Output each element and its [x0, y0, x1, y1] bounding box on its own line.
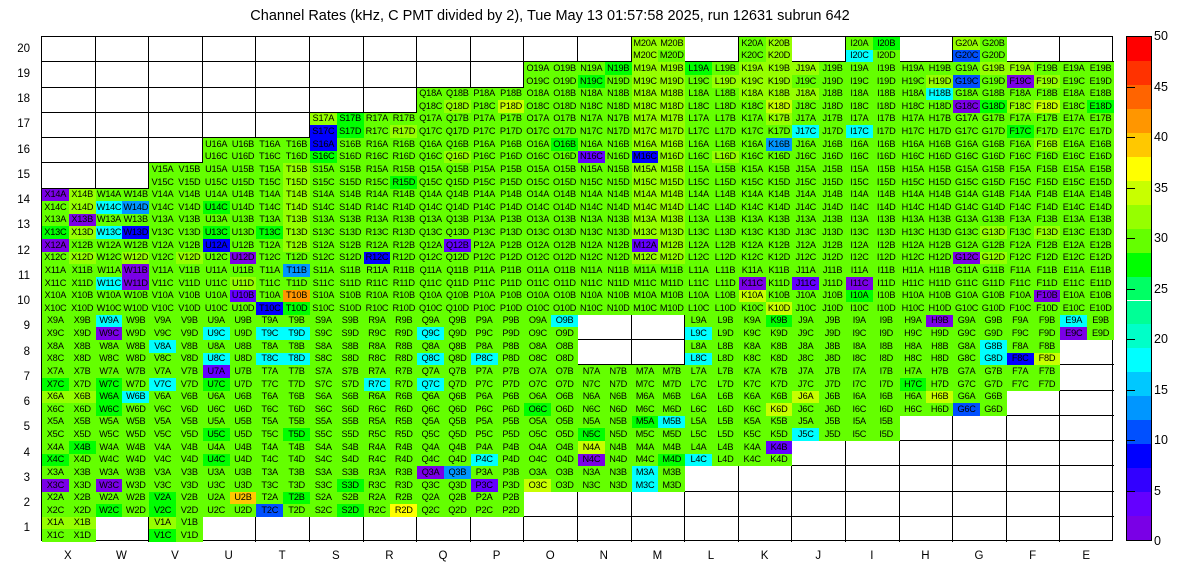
channel-subcell[interactable]: T9C: [256, 327, 283, 340]
channel-subcell[interactable]: G12A: [953, 239, 980, 252]
channel-subcell[interactable]: J9D: [819, 327, 846, 340]
channel-subcell[interactable]: I20C: [846, 50, 873, 63]
channel-subcell[interactable]: M6D: [658, 403, 685, 416]
channel-subcell[interactable]: K8D: [766, 353, 793, 366]
channel-subcell[interactable]: E10C: [1060, 302, 1087, 315]
channel-subcell[interactable]: N5C: [578, 428, 605, 441]
channel-subcell[interactable]: Q7C: [417, 378, 444, 391]
channel-subcell[interactable]: V7D: [176, 378, 203, 391]
channel-subcell[interactable]: R8A: [364, 340, 391, 353]
channel-subcell[interactable]: Q12C: [417, 252, 444, 265]
channel-subcell[interactable]: S17D: [337, 125, 364, 138]
channel-subcell[interactable]: V11B: [176, 264, 203, 277]
channel-subcell[interactable]: P4D: [498, 454, 525, 467]
channel-subcell[interactable]: E9C: [1060, 327, 1087, 340]
channel-subcell[interactable]: T15B: [283, 163, 310, 176]
channel-subcell[interactable]: V6A: [149, 391, 176, 404]
channel-subcell[interactable]: K8C: [739, 353, 766, 366]
channel-subcell[interactable]: U2D: [230, 504, 257, 517]
channel-subcell[interactable]: U3A: [203, 466, 230, 479]
channel-subcell[interactable]: O16A: [524, 138, 551, 151]
channel-subcell[interactable]: F7D: [1034, 378, 1061, 391]
channel-subcell[interactable]: I16D: [873, 151, 900, 164]
channel-subcell[interactable]: R10A: [364, 290, 391, 303]
channel-subcell[interactable]: P12D: [498, 252, 525, 265]
channel-subcell[interactable]: W8C: [96, 353, 123, 366]
channel-subcell[interactable]: P14B: [498, 189, 525, 202]
channel-subcell[interactable]: M15A: [632, 163, 659, 176]
channel-subcell[interactable]: P7B: [498, 365, 525, 378]
channel-subcell[interactable]: O5A: [524, 416, 551, 429]
channel-subcell[interactable]: T8C: [256, 353, 283, 366]
channel-subcell[interactable]: G8C: [953, 353, 980, 366]
channel-subcell[interactable]: W13D: [122, 226, 149, 239]
channel-subcell[interactable]: I17A: [846, 113, 873, 126]
channel-subcell[interactable]: V6B: [176, 391, 203, 404]
channel-subcell[interactable]: W9B: [122, 315, 149, 328]
channel-subcell[interactable]: J13C: [792, 226, 819, 239]
channel-subcell[interactable]: E12A: [1060, 239, 1087, 252]
channel-subcell[interactable]: F17D: [1034, 125, 1061, 138]
channel-subcell[interactable]: P11C: [471, 277, 498, 290]
channel-subcell[interactable]: L5C: [685, 428, 712, 441]
channel-subcell[interactable]: U12D: [230, 252, 257, 265]
channel-subcell[interactable]: H17A: [900, 113, 927, 126]
channel-subcell[interactable]: S9D: [337, 327, 364, 340]
channel-subcell[interactable]: W12B: [122, 239, 149, 252]
channel-subcell[interactable]: K14C: [739, 201, 766, 214]
channel-subcell[interactable]: X14B: [69, 189, 96, 202]
channel-subcell[interactable]: J6B: [819, 391, 846, 404]
channel-subcell[interactable]: N18B: [605, 88, 632, 101]
channel-subcell[interactable]: J7C: [792, 378, 819, 391]
channel-subcell[interactable]: M6B: [658, 391, 685, 404]
channel-subcell[interactable]: G18A: [953, 88, 980, 101]
channel-subcell[interactable]: S6D: [337, 403, 364, 416]
channel-subcell[interactable]: S10B: [337, 290, 364, 303]
channel-subcell[interactable]: P3C: [471, 479, 498, 492]
channel-subcell[interactable]: P17C: [471, 125, 498, 138]
channel-subcell[interactable]: L15B: [712, 163, 739, 176]
channel-subcell[interactable]: K12B: [766, 239, 793, 252]
channel-subcell[interactable]: M4A: [632, 441, 659, 454]
channel-subcell[interactable]: F17C: [1007, 125, 1034, 138]
channel-subcell[interactable]: J10D: [819, 302, 846, 315]
channel-subcell[interactable]: P2A: [471, 492, 498, 505]
channel-subcell[interactable]: G14B: [980, 189, 1007, 202]
channel-subcell[interactable]: X3B: [69, 466, 96, 479]
channel-subcell[interactable]: X10A: [42, 290, 69, 303]
channel-subcell[interactable]: N13D: [605, 226, 632, 239]
channel-subcell[interactable]: M16A: [632, 138, 659, 151]
channel-subcell[interactable]: S10C: [310, 302, 337, 315]
channel-subcell[interactable]: V13B: [176, 214, 203, 227]
channel-subcell[interactable]: J10B: [819, 290, 846, 303]
channel-subcell[interactable]: P15C: [471, 176, 498, 189]
channel-subcell[interactable]: R8D: [390, 353, 417, 366]
channel-subcell[interactable]: X2D: [69, 504, 96, 517]
channel-subcell[interactable]: L4D: [712, 454, 739, 467]
channel-subcell[interactable]: W4B: [122, 441, 149, 454]
channel-subcell[interactable]: S16C: [310, 151, 337, 164]
channel-subcell[interactable]: F8B: [1034, 340, 1061, 353]
channel-subcell[interactable]: U11C: [203, 277, 230, 290]
channel-subcell[interactable]: Q11C: [417, 277, 444, 290]
channel-subcell[interactable]: U6D: [230, 403, 257, 416]
channel-subcell[interactable]: K18C: [739, 100, 766, 113]
channel-subcell[interactable]: L15C: [685, 176, 712, 189]
channel-subcell[interactable]: F18C: [1007, 100, 1034, 113]
channel-subcell[interactable]: H13D: [926, 226, 953, 239]
channel-subcell[interactable]: H17C: [900, 125, 927, 138]
channel-subcell[interactable]: R14A: [364, 189, 391, 202]
channel-subcell[interactable]: P18B: [498, 88, 525, 101]
channel-subcell[interactable]: K9A: [739, 315, 766, 328]
channel-subcell[interactable]: V14C: [149, 201, 176, 214]
channel-subcell[interactable]: H10A: [900, 290, 927, 303]
channel-subcell[interactable]: X13D: [69, 226, 96, 239]
channel-subcell[interactable]: V2B: [176, 492, 203, 505]
channel-subcell[interactable]: H12B: [926, 239, 953, 252]
channel-subcell[interactable]: M3D: [658, 479, 685, 492]
channel-subcell[interactable]: G7C: [953, 378, 980, 391]
channel-subcell[interactable]: O18C: [524, 100, 551, 113]
channel-subcell[interactable]: F12B: [1034, 239, 1061, 252]
channel-subcell[interactable]: P12A: [471, 239, 498, 252]
channel-subcell[interactable]: E9B: [1087, 315, 1114, 328]
channel-subcell[interactable]: I8C: [846, 353, 873, 366]
channel-subcell[interactable]: M5D: [658, 428, 685, 441]
channel-subcell[interactable]: V5A: [149, 416, 176, 429]
channel-subcell[interactable]: V3D: [176, 479, 203, 492]
channel-subcell[interactable]: X3C: [42, 479, 69, 492]
channel-subcell[interactable]: W8B: [122, 340, 149, 353]
channel-subcell[interactable]: P17D: [498, 125, 525, 138]
channel-subcell[interactable]: F15D: [1034, 176, 1061, 189]
channel-subcell[interactable]: I11C: [846, 277, 873, 290]
channel-subcell[interactable]: X12C: [42, 252, 69, 265]
channel-subcell[interactable]: T7B: [283, 365, 310, 378]
channel-subcell[interactable]: O11B: [551, 264, 578, 277]
channel-subcell[interactable]: L15D: [712, 176, 739, 189]
channel-subcell[interactable]: S10A: [310, 290, 337, 303]
channel-subcell[interactable]: I12B: [873, 239, 900, 252]
channel-subcell[interactable]: M3A: [632, 466, 659, 479]
channel-subcell[interactable]: R13A: [364, 214, 391, 227]
channel-subcell[interactable]: V9B: [176, 315, 203, 328]
channel-subcell[interactable]: W9D: [122, 327, 149, 340]
channel-subcell[interactable]: J5D: [819, 428, 846, 441]
channel-subcell[interactable]: Q6D: [444, 403, 471, 416]
channel-subcell[interactable]: T7C: [256, 378, 283, 391]
channel-subcell[interactable]: W3B: [122, 466, 149, 479]
channel-subcell[interactable]: N12B: [605, 239, 632, 252]
channel-subcell[interactable]: P12B: [498, 239, 525, 252]
channel-subcell[interactable]: V11D: [176, 277, 203, 290]
channel-subcell[interactable]: O7A: [524, 365, 551, 378]
channel-subcell[interactable]: I12C: [846, 252, 873, 265]
channel-subcell[interactable]: W2C: [96, 504, 123, 517]
channel-subcell[interactable]: J11D: [819, 277, 846, 290]
channel-subcell[interactable]: E12D: [1087, 252, 1114, 265]
channel-subcell[interactable]: I6D: [873, 403, 900, 416]
channel-subcell[interactable]: S6C: [310, 403, 337, 416]
channel-subcell[interactable]: M16D: [658, 151, 685, 164]
channel-subcell[interactable]: G19C: [953, 75, 980, 88]
channel-subcell[interactable]: V9C: [149, 327, 176, 340]
channel-subcell[interactable]: J10A: [792, 290, 819, 303]
channel-subcell[interactable]: N18C: [578, 100, 605, 113]
channel-subcell[interactable]: Q18B: [444, 88, 471, 101]
channel-subcell[interactable]: K19B: [766, 62, 793, 75]
channel-subcell[interactable]: S13D: [337, 226, 364, 239]
channel-subcell[interactable]: N10A: [578, 290, 605, 303]
channel-subcell[interactable]: F7C: [1007, 378, 1034, 391]
channel-subcell[interactable]: W4D: [122, 454, 149, 467]
channel-subcell[interactable]: P2B: [498, 492, 525, 505]
channel-subcell[interactable]: I7B: [873, 365, 900, 378]
channel-subcell[interactable]: E19B: [1087, 62, 1114, 75]
channel-subcell[interactable]: O13B: [551, 214, 578, 227]
channel-subcell[interactable]: H10B: [926, 290, 953, 303]
channel-subcell[interactable]: H12A: [900, 239, 927, 252]
channel-subcell[interactable]: O6C: [524, 403, 551, 416]
channel-subcell[interactable]: X9A: [42, 315, 69, 328]
channel-subcell[interactable]: I12A: [846, 239, 873, 252]
channel-subcell[interactable]: S12C: [310, 252, 337, 265]
channel-subcell[interactable]: K8B: [766, 340, 793, 353]
channel-subcell[interactable]: W11C: [96, 277, 123, 290]
channel-subcell[interactable]: P3B: [498, 466, 525, 479]
channel-subcell[interactable]: J17A: [792, 113, 819, 126]
channel-subcell[interactable]: T5D: [283, 428, 310, 441]
channel-subcell[interactable]: F9D: [1034, 327, 1061, 340]
channel-subcell[interactable]: N5A: [578, 416, 605, 429]
channel-subcell[interactable]: R8B: [390, 340, 417, 353]
channel-subcell[interactable]: M5C: [632, 428, 659, 441]
channel-subcell[interactable]: O8D: [551, 353, 578, 366]
channel-subcell[interactable]: J8C: [792, 353, 819, 366]
channel-subcell[interactable]: I7C: [846, 378, 873, 391]
channel-subcell[interactable]: F19B: [1034, 62, 1061, 75]
channel-subcell[interactable]: H18A: [900, 88, 927, 101]
channel-subcell[interactable]: R2A: [364, 492, 391, 505]
channel-subcell[interactable]: E15C: [1060, 176, 1087, 189]
channel-subcell[interactable]: O12C: [524, 252, 551, 265]
channel-subcell[interactable]: X12B: [69, 239, 96, 252]
channel-subcell[interactable]: T12B: [283, 239, 310, 252]
channel-subcell[interactable]: J19D: [819, 75, 846, 88]
channel-subcell[interactable]: J12B: [819, 239, 846, 252]
channel-subcell[interactable]: Q10B: [444, 290, 471, 303]
channel-subcell[interactable]: J19C: [792, 75, 819, 88]
channel-subcell[interactable]: E19D: [1087, 75, 1114, 88]
channel-subcell[interactable]: V3A: [149, 466, 176, 479]
channel-subcell[interactable]: W10A: [96, 290, 123, 303]
channel-subcell[interactable]: Q9C: [417, 327, 444, 340]
channel-subcell[interactable]: M14B: [658, 189, 685, 202]
channel-subcell[interactable]: R9A: [364, 315, 391, 328]
channel-subcell[interactable]: L17D: [712, 125, 739, 138]
channel-subcell[interactable]: R9D: [390, 327, 417, 340]
channel-subcell[interactable]: Q12B: [444, 239, 471, 252]
channel-subcell[interactable]: O19D: [551, 75, 578, 88]
channel-subcell[interactable]: E11B: [1087, 264, 1114, 277]
channel-subcell[interactable]: M10B: [658, 290, 685, 303]
channel-subcell[interactable]: O14A: [524, 189, 551, 202]
channel-subcell[interactable]: X8C: [42, 353, 69, 366]
channel-subcell[interactable]: H15B: [926, 163, 953, 176]
channel-subcell[interactable]: Q15D: [444, 176, 471, 189]
channel-subcell[interactable]: U10A: [203, 290, 230, 303]
channel-subcell[interactable]: O5B: [551, 416, 578, 429]
channel-subcell[interactable]: G7B: [980, 365, 1007, 378]
channel-subcell[interactable]: M15D: [658, 176, 685, 189]
channel-subcell[interactable]: R4B: [390, 441, 417, 454]
channel-subcell[interactable]: S8D: [337, 353, 364, 366]
channel-subcell[interactable]: X8A: [42, 340, 69, 353]
channel-subcell[interactable]: Q5C: [417, 428, 444, 441]
channel-subcell[interactable]: M7B: [658, 365, 685, 378]
channel-subcell[interactable]: S11D: [337, 277, 364, 290]
channel-subcell[interactable]: W6A: [96, 391, 123, 404]
channel-subcell[interactable]: V12D: [176, 252, 203, 265]
channel-subcell[interactable]: U10C: [203, 302, 230, 315]
channel-subcell[interactable]: V15C: [149, 176, 176, 189]
channel-subcell[interactable]: P10B: [498, 290, 525, 303]
channel-subcell[interactable]: X12A: [42, 239, 69, 252]
channel-subcell[interactable]: G13C: [953, 226, 980, 239]
channel-subcell[interactable]: V14A: [149, 189, 176, 202]
channel-subcell[interactable]: I15A: [846, 163, 873, 176]
channel-subcell[interactable]: Q13C: [417, 226, 444, 239]
channel-subcell[interactable]: K17B: [766, 113, 793, 126]
channel-subcell[interactable]: K6A: [739, 391, 766, 404]
channel-subcell[interactable]: J19A: [792, 62, 819, 75]
channel-subcell[interactable]: T16B: [283, 138, 310, 151]
channel-subcell[interactable]: W7D: [122, 378, 149, 391]
channel-subcell[interactable]: R16B: [390, 138, 417, 151]
channel-subcell[interactable]: I9C: [846, 327, 873, 340]
channel-subcell[interactable]: E19C: [1060, 75, 1087, 88]
channel-subcell[interactable]: K15B: [766, 163, 793, 176]
channel-subcell[interactable]: P5C: [471, 428, 498, 441]
channel-subcell[interactable]: E17C: [1060, 125, 1087, 138]
channel-subcell[interactable]: F16C: [1007, 151, 1034, 164]
channel-subcell[interactable]: N6D: [605, 403, 632, 416]
channel-subcell[interactable]: U8A: [203, 340, 230, 353]
channel-subcell[interactable]: X6A: [42, 391, 69, 404]
channel-subcell[interactable]: J13D: [819, 226, 846, 239]
channel-subcell[interactable]: O17B: [551, 113, 578, 126]
channel-subcell[interactable]: P15D: [498, 176, 525, 189]
channel-subcell[interactable]: Q9D: [444, 327, 471, 340]
channel-subcell[interactable]: T6C: [256, 403, 283, 416]
channel-subcell[interactable]: X8B: [69, 340, 96, 353]
channel-subcell[interactable]: Q10C: [417, 302, 444, 315]
channel-subcell[interactable]: Q11A: [417, 264, 444, 277]
channel-subcell[interactable]: P15B: [498, 163, 525, 176]
channel-subcell[interactable]: S3B: [337, 466, 364, 479]
channel-subcell[interactable]: O10B: [551, 290, 578, 303]
channel-subcell[interactable]: H11C: [900, 277, 927, 290]
channel-subcell[interactable]: R16A: [364, 138, 391, 151]
channel-subcell[interactable]: O3C: [524, 479, 551, 492]
channel-subcell[interactable]: O9D: [551, 327, 578, 340]
channel-subcell[interactable]: S10D: [337, 302, 364, 315]
channel-subcell[interactable]: Q4B: [444, 441, 471, 454]
channel-subcell[interactable]: L15A: [685, 163, 712, 176]
channel-subcell[interactable]: M12A: [632, 239, 659, 252]
channel-subcell[interactable]: H16D: [926, 151, 953, 164]
channel-subcell[interactable]: O4C: [524, 454, 551, 467]
channel-subcell[interactable]: T15D: [283, 176, 310, 189]
channel-subcell[interactable]: G16C: [953, 151, 980, 164]
channel-subcell[interactable]: J12D: [819, 252, 846, 265]
channel-subcell[interactable]: I13D: [873, 226, 900, 239]
channel-subcell[interactable]: J5C: [792, 428, 819, 441]
channel-subcell[interactable]: X13A: [42, 214, 69, 227]
channel-subcell[interactable]: I13C: [846, 226, 873, 239]
channel-subcell[interactable]: I9B: [873, 315, 900, 328]
channel-subcell[interactable]: O7C: [524, 378, 551, 391]
channel-subcell[interactable]: X11B: [69, 264, 96, 277]
channel-subcell[interactable]: U5D: [230, 428, 257, 441]
channel-subcell[interactable]: T14B: [283, 189, 310, 202]
channel-subcell[interactable]: M3B: [658, 466, 685, 479]
channel-subcell[interactable]: N16D: [605, 151, 632, 164]
channel-subcell[interactable]: S16D: [337, 151, 364, 164]
channel-subcell[interactable]: G17C: [953, 125, 980, 138]
channel-subcell[interactable]: G11A: [953, 264, 980, 277]
channel-subcell[interactable]: U9A: [203, 315, 230, 328]
channel-subcell[interactable]: W6B: [122, 391, 149, 404]
channel-subcell[interactable]: K12C: [739, 252, 766, 265]
channel-subcell[interactable]: S12A: [310, 239, 337, 252]
channel-subcell[interactable]: S2A: [310, 492, 337, 505]
channel-subcell[interactable]: R14B: [390, 189, 417, 202]
channel-subcell[interactable]: H18B: [926, 88, 953, 101]
channel-subcell[interactable]: I13B: [873, 214, 900, 227]
channel-subcell[interactable]: T12C: [256, 252, 283, 265]
channel-subcell[interactable]: J15A: [792, 163, 819, 176]
channel-subcell[interactable]: J18B: [819, 88, 846, 101]
channel-subcell[interactable]: G17D: [980, 125, 1007, 138]
channel-subcell[interactable]: X5B: [69, 416, 96, 429]
channel-subcell[interactable]: M7C: [632, 378, 659, 391]
channel-subcell[interactable]: R15A: [364, 163, 391, 176]
channel-subcell[interactable]: O6A: [524, 391, 551, 404]
channel-subcell[interactable]: T10A: [256, 290, 283, 303]
channel-subcell[interactable]: G10B: [980, 290, 1007, 303]
channel-subcell[interactable]: E13C: [1060, 226, 1087, 239]
channel-subcell[interactable]: I10D: [873, 302, 900, 315]
channel-subcell[interactable]: N11B: [605, 264, 632, 277]
channel-subcell[interactable]: T14C: [256, 201, 283, 214]
channel-subcell[interactable]: P13A: [471, 214, 498, 227]
channel-subcell[interactable]: I18B: [873, 88, 900, 101]
channel-subcell[interactable]: F8C: [1007, 353, 1034, 366]
channel-subcell[interactable]: T2C: [256, 504, 283, 517]
channel-subcell[interactable]: N16A: [578, 138, 605, 151]
channel-subcell[interactable]: W14B: [122, 189, 149, 202]
channel-subcell[interactable]: L5D: [712, 428, 739, 441]
channel-subcell[interactable]: M14A: [632, 189, 659, 202]
channel-subcell[interactable]: G8D: [980, 353, 1007, 366]
channel-subcell[interactable]: M19B: [658, 62, 685, 75]
channel-subcell[interactable]: I19C: [846, 75, 873, 88]
channel-subcell[interactable]: M6C: [632, 403, 659, 416]
